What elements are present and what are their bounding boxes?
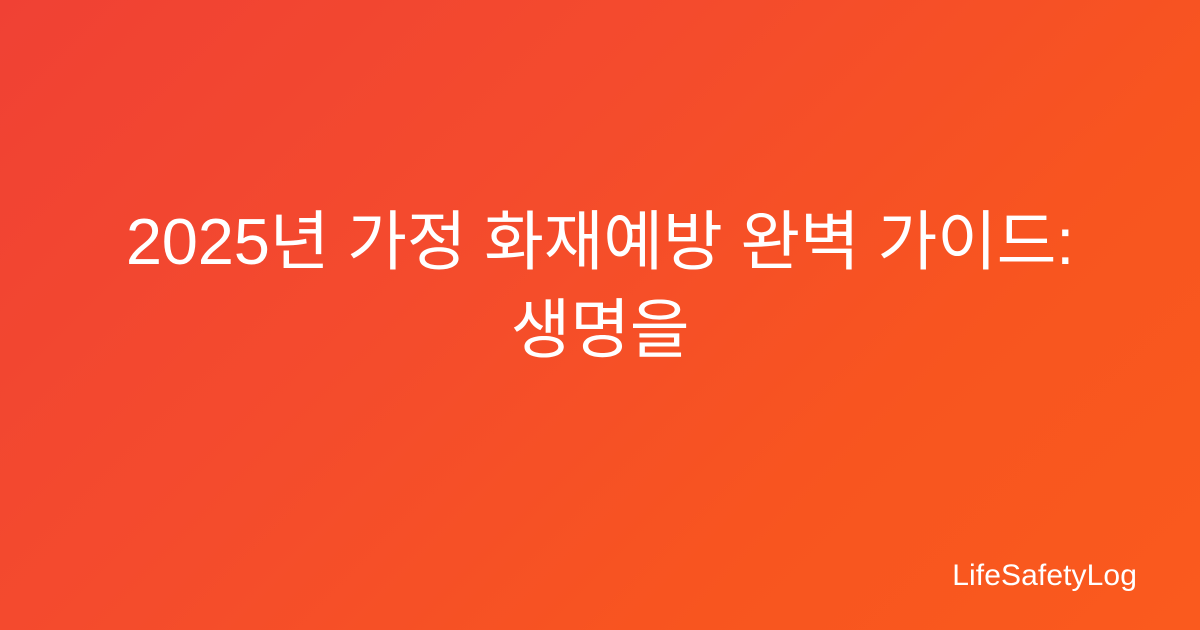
brand-watermark: LifeSafetyLog [952, 561, 1137, 591]
og-share-card: 2025년 가정 화재예방 완벽 가이드: 생명을 LifeSafetyLog [0, 0, 1200, 630]
headline-container: 2025년 가정 화재예방 완벽 가이드: 생명을 [0, 0, 1200, 630]
page-title: 2025년 가정 화재예방 완벽 가이드: 생명을 [100, 198, 1100, 374]
